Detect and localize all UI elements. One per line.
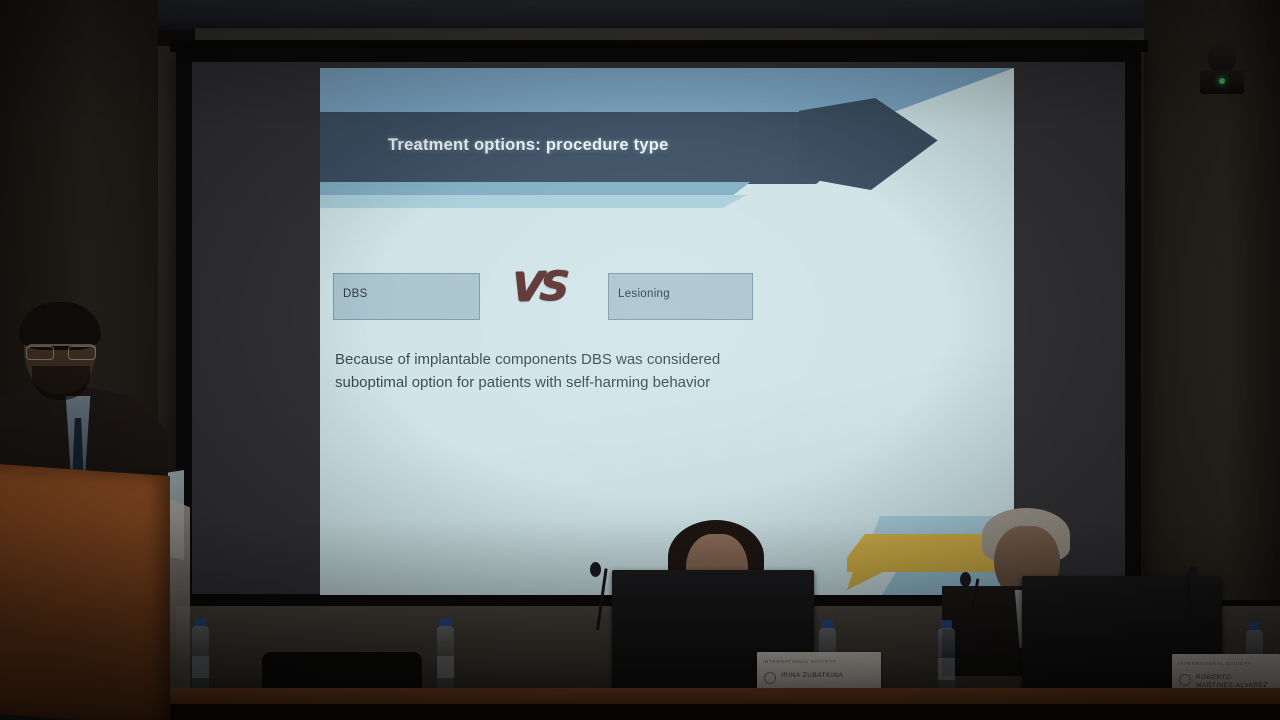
wall-right-column [1144,0,1280,640]
option-label-dbs: DBS [343,288,368,300]
slide-body-text: Because of implantable components DBS wa… [335,348,765,395]
header-arrow-tip [799,98,938,190]
ceiling-band [0,0,1280,30]
presenter-hair [19,302,101,350]
nameplate-name: IRINA ZUBATKINA [781,672,877,680]
option-box-lesioning: Lesioning [608,273,753,320]
header-band-lower-light [320,195,1014,208]
presenter-glasses-icon [26,344,96,356]
conference-room-photo: Treatment options: procedure type DBS VS… [0,0,1280,720]
bottle-body [192,626,209,696]
ceiling-ptz-camera [1200,40,1244,96]
versus-mark: VS [510,263,567,311]
nameplate-org-line: INTERNATIONAL SOCIETY [1178,661,1274,669]
panel-table-front [130,704,1280,720]
wooden-podium [0,464,170,720]
nameplate-org-line: INTERNATIONAL SOCIETY [763,659,875,667]
microphone-right-head [960,572,971,587]
option-box-dbs: DBS [333,273,480,320]
water-bottle-4 [938,620,955,698]
presentation-slide: Treatment options: procedure type DBS VS… [320,68,1014,595]
water-bottle-2 [437,618,454,696]
camera-dome-icon [1208,42,1236,72]
option-label-lesioning: Lesioning [618,288,670,300]
water-bottle-1 [192,618,209,696]
slide-title: Treatment options: procedure type [388,136,669,155]
microphone-far-right-head [1187,566,1198,581]
bottle-label [938,658,955,680]
bottle-label [192,656,209,678]
bottle-body [437,626,454,696]
bottle-label [437,656,454,678]
nameplate-logo-icon [764,672,776,684]
microphone-center-head [590,562,601,577]
camera-status-led [1219,78,1225,84]
nameplate-logo-icon [1179,674,1191,686]
